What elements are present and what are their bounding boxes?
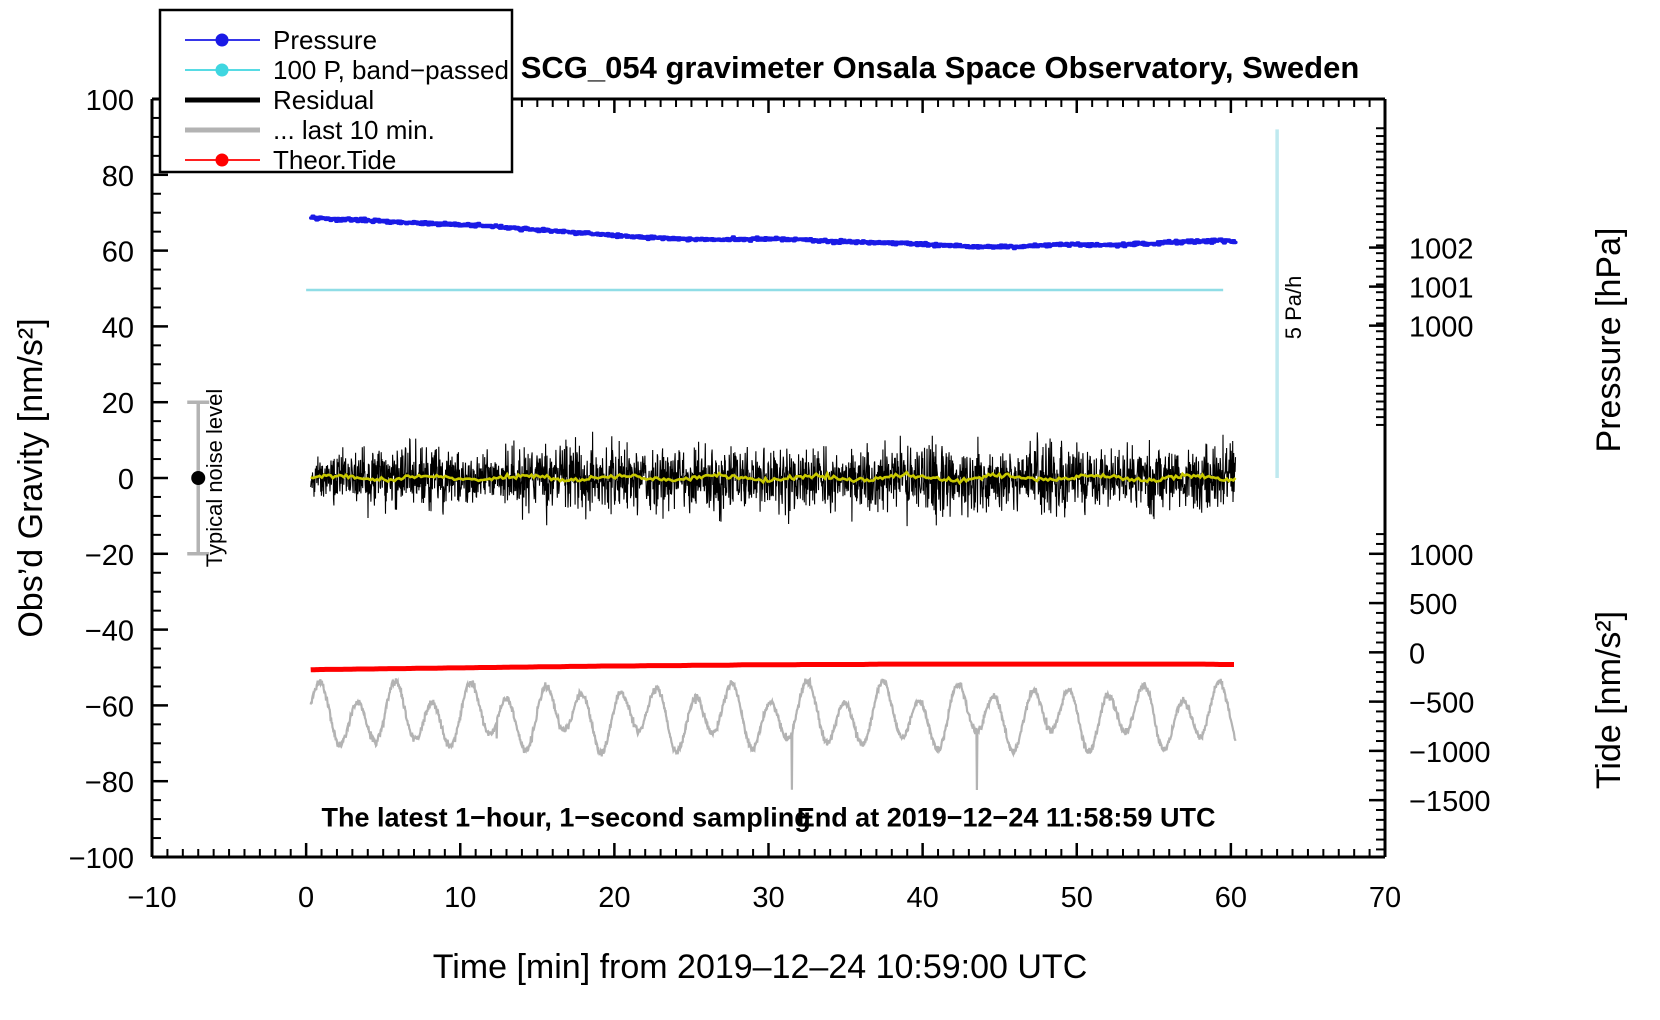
tide-tick-label: −1000 bbox=[1409, 737, 1490, 769]
legend-label: Residual bbox=[273, 85, 374, 115]
pressure-tick-label: 1001 bbox=[1409, 273, 1474, 305]
y-tick-label: −80 bbox=[85, 767, 134, 799]
y-axis-title-gravity: Obs’d Gravity [nm/s²] bbox=[12, 318, 50, 637]
x-tick-label: −10 bbox=[127, 882, 176, 914]
y-axis-title-tide: Tide [nm/s²] bbox=[1590, 611, 1628, 789]
x-tick-label: 50 bbox=[1061, 882, 1093, 914]
tide-tick-label: −1500 bbox=[1409, 786, 1490, 818]
tide-tick-label: 1000 bbox=[1409, 540, 1474, 572]
x-tick-label: 0 bbox=[298, 882, 314, 914]
gravimeter-timeseries-chart: −10010203040506070−100−80−60−40−20020406… bbox=[0, 0, 1660, 1020]
x-tick-label: 60 bbox=[1215, 882, 1247, 914]
x-tick-label: 20 bbox=[598, 882, 630, 914]
chart-root: −10010203040506070−100−80−60−40−20020406… bbox=[0, 0, 1660, 1020]
noise-level-note: Typical noise level bbox=[202, 389, 227, 568]
legend-label: Theor.Tide bbox=[273, 145, 396, 175]
y-tick-label: 100 bbox=[86, 85, 134, 117]
legend-label: ... last 10 min. bbox=[273, 115, 435, 145]
legend-label: 100 P, band−passed bbox=[273, 55, 509, 85]
y-tick-label: −40 bbox=[85, 616, 134, 648]
y-tick-label: 40 bbox=[102, 312, 134, 344]
x-axis-title-time: Time [min] from 2019–12–24 10:59:00 UTC bbox=[433, 948, 1088, 986]
y-tick-label: −60 bbox=[85, 691, 134, 723]
legend-dot-marker bbox=[216, 154, 229, 167]
y-tick-label: 20 bbox=[102, 388, 134, 420]
pa-per-hour-note: 5 Pa/h bbox=[1281, 276, 1306, 340]
y-tick-label: −20 bbox=[85, 540, 134, 572]
legend-dot-marker bbox=[216, 64, 229, 77]
y-tick-label: 80 bbox=[102, 161, 134, 193]
legend-label: Pressure bbox=[273, 25, 377, 55]
x-tick-label: 40 bbox=[906, 882, 938, 914]
legend-dot-marker bbox=[216, 34, 229, 47]
x-tick-label: 10 bbox=[444, 882, 476, 914]
y-tick-label: −100 bbox=[69, 843, 134, 875]
end-time-note: End at 2019−12−24 11:58:59 UTC bbox=[797, 803, 1216, 833]
tide-tick-label: 0 bbox=[1409, 638, 1425, 670]
tide-tick-label: 500 bbox=[1409, 589, 1457, 621]
tide-tick-label: −500 bbox=[1409, 688, 1474, 720]
pressure-tick-label: 1000 bbox=[1409, 312, 1474, 344]
y-axis-title-pressure: Pressure [hPa] bbox=[1590, 228, 1628, 453]
x-tick-label: 70 bbox=[1369, 882, 1401, 914]
y-tick-label: 0 bbox=[118, 464, 134, 496]
y-tick-label: 60 bbox=[102, 237, 134, 269]
chart-title: SCG_054 gravimeter Onsala Space Observat… bbox=[521, 50, 1360, 85]
legend[interactable]: Pressure100 P, band−passedResidual... la… bbox=[160, 10, 512, 175]
x-tick-label: 30 bbox=[752, 882, 784, 914]
sampling-note: The latest 1−hour, 1−second sampling bbox=[322, 803, 811, 833]
pressure-tick-label: 1002 bbox=[1409, 234, 1474, 266]
